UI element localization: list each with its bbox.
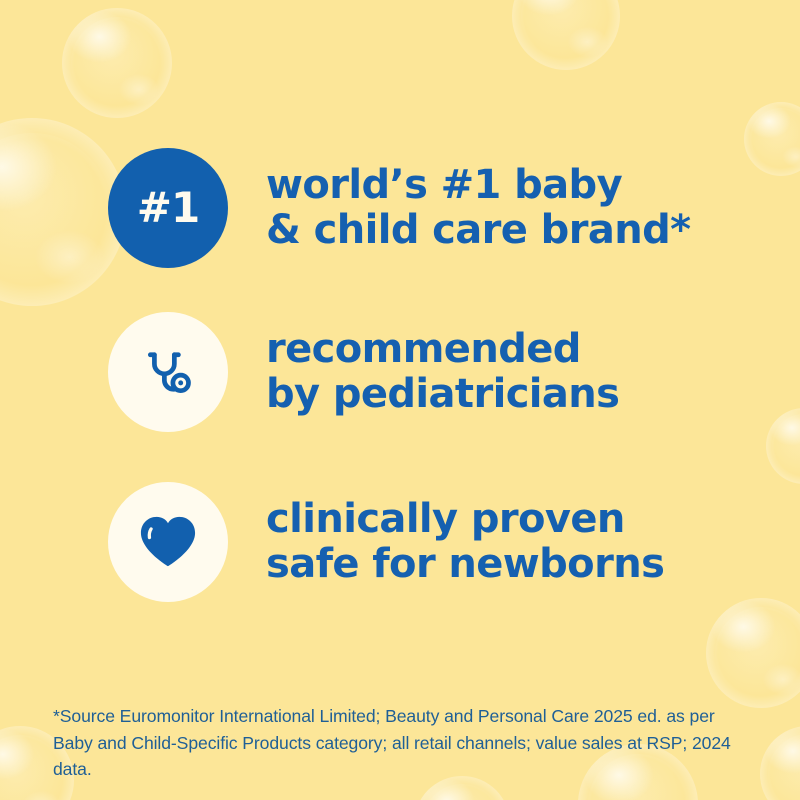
bubble-top-left-small — [62, 8, 172, 118]
bubble-bottom-right — [706, 598, 800, 708]
bubble-top-center — [512, 0, 620, 70]
bubble-top-right — [744, 102, 800, 176]
bubble-right-middle — [766, 408, 800, 484]
badge-number-label: #1 — [137, 187, 199, 229]
claim-row: clinically proven safe for newborns — [108, 482, 664, 602]
claim-text: clinically proven safe for newborns — [266, 497, 664, 587]
claim-row: #1world’s #1 baby & child care brand* — [108, 148, 690, 268]
claim-row: recommended by pediatricians — [108, 312, 619, 432]
claim-text: world’s #1 baby & child care brand* — [266, 163, 690, 253]
promo-poster: #1world’s #1 baby & child care brand*rec… — [0, 0, 800, 800]
claim-text: recommended by pediatricians — [266, 327, 619, 417]
heart-icon-glyph — [137, 513, 199, 571]
number-one-badge: #1 — [108, 148, 228, 268]
stethoscope-icon-glyph — [139, 343, 197, 401]
heart-icon — [108, 482, 228, 602]
source-footnote: *Source Euromonitor International Limite… — [53, 703, 753, 783]
bubble-bottom-right-far — [760, 726, 800, 800]
stethoscope-icon — [108, 312, 228, 432]
